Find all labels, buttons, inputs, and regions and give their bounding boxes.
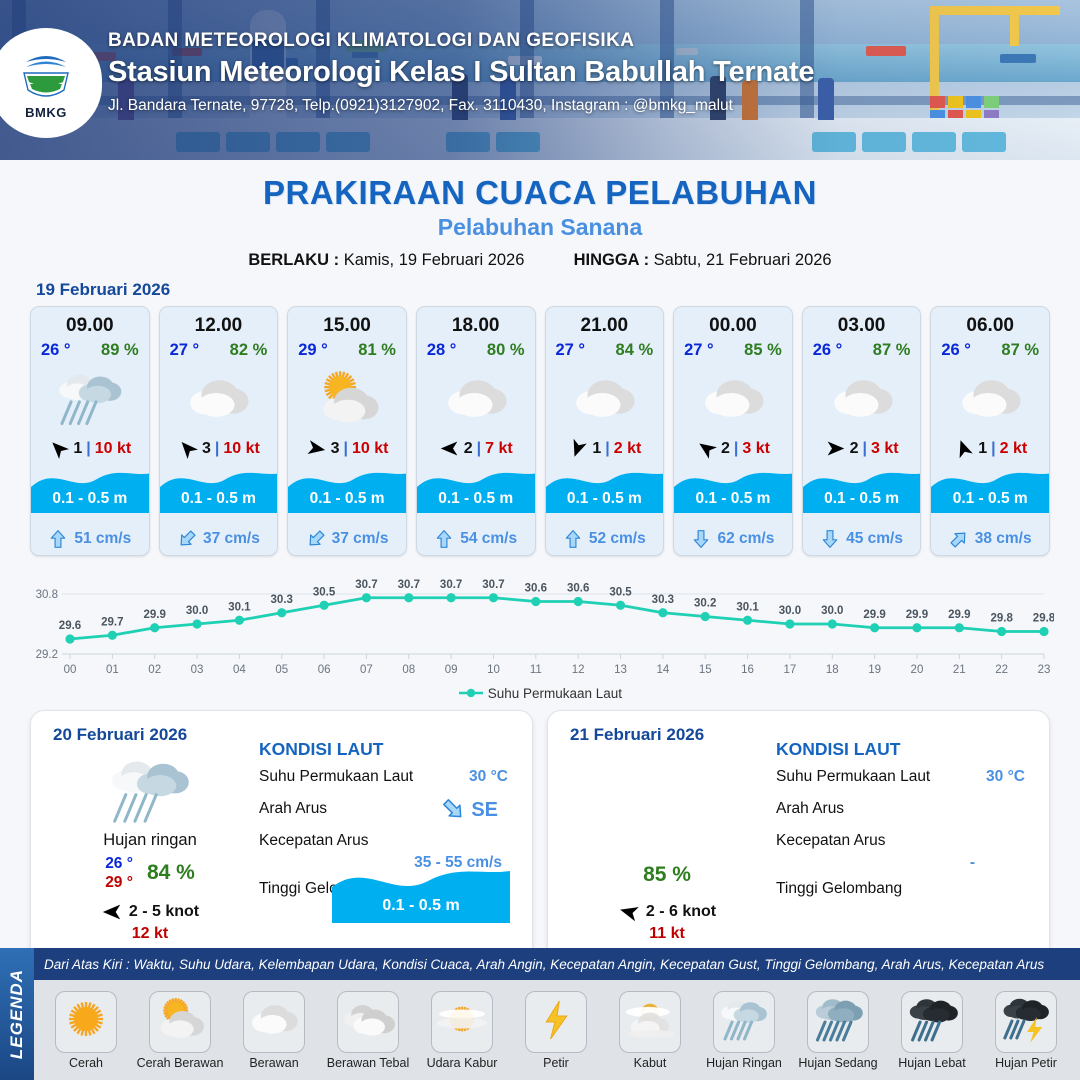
legend-item: Cerah — [42, 991, 130, 1070]
day2-wave-badge: 0.1 - 0.5 m — [332, 865, 510, 923]
card-time: 09.00 — [31, 307, 149, 337]
legend-item: Hujan Sedang — [794, 991, 882, 1070]
valid-until-label: HINGGA : — [574, 251, 649, 269]
card-current-speed: 51 cm/s — [74, 530, 131, 548]
day3-sst-value: 30 °C — [986, 768, 1025, 786]
card-temp-humidity: 26 ° 89 % — [31, 337, 149, 360]
legend-item-label: Cerah Berawan — [136, 1056, 224, 1070]
card-wind-dir-number: 2 — [721, 440, 730, 458]
card-humidity: 82 % — [230, 341, 268, 360]
svg-text:20: 20 — [911, 664, 924, 676]
sst-chart: 30.829.200010203040506070809101112131415… — [26, 570, 1054, 690]
card-humidity: 81 % — [358, 341, 396, 360]
svg-text:13: 13 — [614, 664, 627, 676]
legend-item: Petir — [512, 991, 600, 1070]
legend-item-label: Petir — [512, 1056, 600, 1070]
day3-current-speed-value: - — [970, 854, 975, 872]
svg-text:08: 08 — [402, 664, 415, 676]
sea-row: Suhu Permukaan Laut 30 °C — [776, 768, 1033, 800]
day2-temp-min: 26 ° — [105, 854, 133, 873]
card-current-speed: 37 cm/s — [203, 530, 260, 548]
card-wave-height: 0.1 - 0.5 m — [803, 490, 921, 508]
card-wind-dir-number: 1 — [978, 440, 987, 458]
svg-text:30.3: 30.3 — [652, 594, 674, 606]
svg-text:30.2: 30.2 — [694, 598, 716, 610]
berawan-tebal-icon — [341, 994, 395, 1049]
hour-card: 06.00 26 ° 87 % 1 | 2 kt 0.1 - 0.5 m 3 — [930, 306, 1050, 556]
card-wave-block: 0.1 - 0.5 m — [31, 467, 149, 513]
svg-text:30.1: 30.1 — [228, 601, 251, 613]
svg-text:04: 04 — [233, 664, 246, 676]
card-humidity: 87 % — [873, 341, 911, 360]
card-wave-height: 0.1 - 0.5 m — [417, 490, 535, 508]
card-time: 06.00 — [931, 307, 1049, 337]
svg-text:29.9: 29.9 — [863, 609, 885, 621]
card-weather-icon — [31, 362, 149, 434]
svg-text:12: 12 — [572, 664, 585, 676]
card-temp-humidity: 27 ° 82 % — [160, 337, 278, 360]
card-current-speed: 45 cm/s — [846, 530, 903, 548]
day3-gust: 11 kt — [562, 925, 772, 943]
day2-wind: 2 - 5 knot — [45, 901, 255, 923]
card-gust: 2 kt — [614, 440, 642, 458]
card-wind-separator: | — [862, 440, 866, 458]
current-direction-arrow-icon — [691, 529, 711, 549]
svg-text:30.6: 30.6 — [525, 583, 547, 595]
valid-from-value: Kamis, 19 Februari 2026 — [344, 251, 525, 269]
svg-text:29.9: 29.9 — [906, 609, 928, 621]
day2-sea-conditions: KONDISI LAUT Suhu Permukaan Laut 30 °C A… — [259, 739, 516, 912]
card-wave-block: 0.1 - 0.5 m — [674, 467, 792, 513]
day3-wave-label: Tinggi Gelombang — [776, 880, 902, 897]
day2-current-dir-text: SE — [471, 799, 498, 821]
legend-item: Hujan Ringan — [700, 991, 788, 1070]
day3-sst-label: Suhu Permukaan Laut — [776, 768, 930, 785]
hour-card: 18.00 28 ° 80 % 2 | 7 kt 0.1 - 0.5 m 5 — [416, 306, 536, 556]
day3-current-dir-label: Arah Arus — [776, 800, 844, 817]
svg-text:22: 22 — [995, 664, 1008, 676]
card-wave-height: 0.1 - 0.5 m — [546, 490, 664, 508]
svg-text:30.7: 30.7 — [440, 579, 462, 591]
card-wind: 2 | 7 kt — [417, 438, 535, 459]
wind-direction-arrow-icon — [618, 901, 640, 923]
svg-text:01: 01 — [106, 664, 119, 676]
card-gust: 10 kt — [95, 440, 131, 458]
card-wind-separator: | — [344, 440, 348, 458]
legend-item-label: Hujan Sedang — [794, 1056, 882, 1070]
berawan-icon — [247, 994, 301, 1049]
svg-text:15: 15 — [699, 664, 712, 676]
day3-summary: 85 % 2 - 6 knot 11 kt — [562, 751, 772, 943]
day2-temperatures: 26 ° 29 ° — [105, 854, 133, 893]
current-direction-arrow-icon — [306, 529, 326, 549]
svg-text:30.7: 30.7 — [482, 579, 504, 591]
day3-wind-speed: 2 - 6 knot — [646, 903, 716, 921]
sea-row: Arah Arus — [776, 800, 1033, 832]
agency-name: BADAN METEOROLOGI KLIMATOLOGI DAN GEOFIS… — [108, 30, 814, 52]
svg-text:29.7: 29.7 — [101, 616, 123, 628]
svg-text:16: 16 — [741, 664, 754, 676]
day3-humidity: 85 % — [562, 863, 772, 887]
card-weather-icon — [288, 362, 406, 434]
svg-text:30.1: 30.1 — [736, 601, 759, 613]
card-wind-dir-number: 2 — [464, 440, 473, 458]
card-wave-block: 0.1 - 0.5 m — [160, 467, 278, 513]
card-current: 52 cm/s — [546, 529, 664, 549]
hour-card: 03.00 26 ° 87 % 2 | 3 kt 0.1 - 0.5 m 4 — [802, 306, 922, 556]
card-time: 00.00 — [674, 307, 792, 337]
legend-item-label: Berawan — [230, 1056, 318, 1070]
card-current-speed: 38 cm/s — [975, 530, 1032, 548]
card-wind-dir-number: 1 — [592, 440, 601, 458]
svg-text:17: 17 — [784, 664, 797, 676]
card-wave-height: 0.1 - 0.5 m — [288, 490, 406, 508]
legend-icon-box — [995, 991, 1057, 1053]
card-weather-icon — [803, 362, 921, 434]
card-gust: 3 kt — [871, 440, 899, 458]
svg-text:21: 21 — [953, 664, 966, 676]
card-weather-icon — [160, 362, 278, 434]
hujan-petir-icon — [999, 994, 1053, 1049]
day1-date-label: 19 Februari 2026 — [36, 280, 1080, 300]
bmkg-logo-mark — [18, 46, 74, 104]
legend-icon-box — [243, 991, 305, 1053]
card-wave-height: 0.1 - 0.5 m — [931, 490, 1049, 508]
card-current-speed: 52 cm/s — [589, 530, 646, 548]
wind-direction-arrow-icon — [696, 438, 717, 459]
card-wind: 2 | 3 kt — [803, 438, 921, 459]
hour-card: 21.00 27 ° 84 % 1 | 2 kt 0.1 - 0.5 m 5 — [545, 306, 665, 556]
current-direction-arrow-icon — [434, 529, 454, 549]
card-wind-separator: | — [991, 440, 995, 458]
udara-kabur-icon — [435, 994, 489, 1049]
hujan-sedang-icon — [811, 994, 865, 1049]
wind-direction-arrow-icon — [567, 438, 588, 459]
hour-card: 12.00 27 ° 82 % 3 | 10 kt 0.1 - 0.5 m — [159, 306, 279, 556]
svg-text:23: 23 — [1038, 664, 1051, 676]
sea-row: Tinggi Gelombang — [776, 880, 1033, 912]
card-current: 54 cm/s — [417, 529, 535, 549]
card-current: 62 cm/s — [674, 529, 792, 549]
card-temperature: 26 ° — [813, 341, 843, 360]
card-wind-separator: | — [86, 440, 90, 458]
day2-temp-max: 29 ° — [105, 873, 133, 892]
card-wave-block: 0.1 - 0.5 m — [803, 467, 921, 513]
card-wind-dir-number: 1 — [73, 440, 82, 458]
card-current-speed: 62 cm/s — [717, 530, 774, 548]
svg-text:29.8: 29.8 — [990, 613, 1013, 625]
validity-row: BERLAKU : Kamis, 19 Februari 2026 HINGGA… — [0, 251, 1080, 270]
current-direction-arrow-icon — [949, 529, 969, 549]
card-wind-dir-number: 2 — [850, 440, 859, 458]
day2-summary: Hujan ringan 26 ° 29 ° 84 % 2 - 5 knot 1… — [45, 751, 255, 943]
day2-sea-title: KONDISI LAUT — [259, 739, 516, 760]
station-address: Jl. Bandara Ternate, 97728, Telp.(0921)3… — [108, 97, 814, 115]
petir-icon — [529, 994, 583, 1049]
sea-row: Kecepatan Arus - — [776, 832, 1033, 864]
card-time: 12.00 — [160, 307, 278, 337]
svg-text:09: 09 — [445, 664, 458, 676]
legend-side-title: LEGENDA — [7, 969, 27, 1059]
day3-sea-title: KONDISI LAUT — [776, 739, 1033, 760]
hour-card: 15.00 29 ° 81 % 3 | 10 kt 0.1 - 0.5 m — [287, 306, 407, 556]
day2-wave-value: 0.1 - 0.5 m — [332, 897, 510, 915]
legend-section: LEGENDA Dari Atas Kiri : Waktu, Suhu Uda… — [0, 948, 1080, 1080]
header-banner: BMKG BADAN METEOROLOGI KLIMATOLOGI DAN G… — [0, 0, 1080, 160]
card-weather-icon — [417, 362, 535, 434]
card-temperature: 27 ° — [556, 341, 586, 360]
kabut-icon — [623, 994, 677, 1049]
card-temperature: 27 ° — [684, 341, 714, 360]
svg-text:00: 00 — [64, 664, 77, 676]
day3-sea-conditions: KONDISI LAUT Suhu Permukaan Laut 30 °C A… — [776, 739, 1033, 912]
day2-current-speed-label: Kecepatan Arus — [259, 832, 368, 849]
card-temp-humidity: 27 ° 85 % — [674, 337, 792, 360]
day3-wind: 2 - 6 knot — [562, 901, 772, 923]
svg-text:30.5: 30.5 — [609, 586, 632, 598]
card-temperature: 28 ° — [427, 341, 457, 360]
legend-side-banner: LEGENDA — [0, 948, 34, 1080]
current-direction-arrow-icon — [440, 799, 466, 821]
card-wind: 1 | 10 kt — [31, 438, 149, 459]
card-wave-height: 0.1 - 0.5 m — [674, 490, 792, 508]
bmkg-logo-text: BMKG — [25, 105, 67, 120]
legend-item: Berawan Tebal — [324, 991, 412, 1070]
card-time: 03.00 — [803, 307, 921, 337]
card-temp-humidity: 26 ° 87 % — [803, 337, 921, 360]
card-gust: 10 kt — [352, 440, 388, 458]
cerah-icon — [59, 994, 113, 1049]
card-temp-humidity: 29 ° 81 % — [288, 337, 406, 360]
card-time: 21.00 — [546, 307, 664, 337]
legend-item: Cerah Berawan — [136, 991, 224, 1070]
hourly-forecast-row: 09.00 26 ° 89 % 1 | 10 kt 0.1 - 0 — [0, 306, 1080, 556]
svg-text:07: 07 — [360, 664, 373, 676]
legend-item-label: Berawan Tebal — [324, 1056, 412, 1070]
page-title: PRAKIRAAN CUACA PELABUHAN — [0, 174, 1080, 212]
card-temp-humidity: 26 ° 87 % — [931, 337, 1049, 360]
hujan-ringan-icon — [717, 994, 771, 1049]
station-name: Stasiun Meteorologi Kelas I Sultan Babul… — [108, 56, 814, 89]
day2-temp-humidity: 26 ° 29 ° 84 % — [45, 854, 255, 893]
sea-row: Arah Arus SE — [259, 800, 516, 832]
wind-direction-arrow-icon — [306, 438, 327, 459]
day3-date: 21 Februari 2026 — [570, 725, 704, 745]
card-humidity: 80 % — [487, 341, 525, 360]
card-wave-height: 0.1 - 0.5 m — [160, 490, 278, 508]
svg-text:30.8: 30.8 — [36, 589, 58, 601]
card-temp-humidity: 28 ° 80 % — [417, 337, 535, 360]
svg-text:30.0: 30.0 — [821, 605, 843, 617]
svg-text:30.5: 30.5 — [313, 586, 336, 598]
legend-item-label: Udara Kabur — [418, 1056, 506, 1070]
svg-text:19: 19 — [868, 664, 881, 676]
legend-item: Udara Kabur — [418, 991, 506, 1070]
svg-text:30.0: 30.0 — [779, 605, 801, 617]
legend-note: Dari Atas Kiri : Waktu, Suhu Udara, Kele… — [34, 948, 1080, 980]
card-temperature: 26 ° — [41, 341, 71, 360]
day2-date: 20 Februari 2026 — [53, 725, 187, 745]
card-time: 15.00 — [288, 307, 406, 337]
card-current: 45 cm/s — [803, 529, 921, 549]
legend-icon-box — [337, 991, 399, 1053]
svg-text:03: 03 — [191, 664, 204, 676]
card-gust: 10 kt — [223, 440, 259, 458]
legend-items: Cerah Cerah Berawan Berawan Berawan — [34, 980, 1080, 1080]
day2-current-dir-label: Arah Arus — [259, 800, 327, 817]
card-wave-block: 0.1 - 0.5 m — [546, 467, 664, 513]
day2-gust: 12 kt — [45, 925, 255, 943]
current-direction-arrow-icon — [820, 529, 840, 549]
sea-row: Kecepatan Arus 35 - 55 cm/s — [259, 832, 516, 864]
legend-item: Hujan Lebat — [888, 991, 976, 1070]
card-humidity: 84 % — [616, 341, 654, 360]
cerah-berawan-icon — [153, 994, 207, 1049]
card-humidity: 87 % — [1001, 341, 1039, 360]
panel-day2: 20 Februari 2026 Hujan ringan 26 ° 29 ° … — [30, 710, 533, 960]
card-current-speed: 54 cm/s — [460, 530, 517, 548]
wind-direction-arrow-icon — [439, 438, 460, 459]
valid-until-value: Sabtu, 21 Februari 2026 — [654, 251, 832, 269]
card-wind-separator: | — [605, 440, 609, 458]
card-temp-humidity: 27 ° 84 % — [546, 337, 664, 360]
legend-item-label: Hujan Ringan — [700, 1056, 788, 1070]
hujan-lebat-icon — [905, 994, 959, 1049]
svg-text:29.2: 29.2 — [36, 649, 58, 661]
svg-text:06: 06 — [318, 664, 331, 676]
legend-icon-box — [619, 991, 681, 1053]
card-wind: 3 | 10 kt — [288, 438, 406, 459]
svg-text:11: 11 — [530, 664, 542, 676]
card-temperature: 29 ° — [298, 341, 328, 360]
card-current: 51 cm/s — [31, 529, 149, 549]
current-direction-arrow-icon — [177, 529, 197, 549]
legend-icon-box — [807, 991, 869, 1053]
svg-text:05: 05 — [275, 664, 288, 676]
day2-current-dir-value: SE — [440, 796, 498, 822]
svg-text:29.8: 29.8 — [1033, 613, 1054, 625]
card-gust: 7 kt — [485, 440, 513, 458]
card-current: 37 cm/s — [288, 529, 406, 549]
valid-from-label: BERLAKU : — [248, 251, 339, 269]
legend-icon-box — [525, 991, 587, 1053]
legend-icon-box — [149, 991, 211, 1053]
card-wind-dir-number: 3 — [202, 440, 211, 458]
hour-card: 00.00 27 ° 85 % 2 | 3 kt 0.1 - 0.5 m 6 — [673, 306, 793, 556]
card-wind-separator: | — [215, 440, 219, 458]
daily-panels: 20 Februari 2026 Hujan ringan 26 ° 29 ° … — [0, 702, 1080, 960]
card-current: 38 cm/s — [931, 529, 1049, 549]
card-wave-height: 0.1 - 0.5 m — [31, 490, 149, 508]
bmkg-logo: BMKG — [0, 28, 102, 138]
legend-icon-box — [901, 991, 963, 1053]
legend-item: Kabut — [606, 991, 694, 1070]
card-wind-dir-number: 3 — [331, 440, 340, 458]
day3-current-speed-label: Kecepatan Arus — [776, 832, 885, 849]
day2-sst-value: 30 °C — [469, 768, 508, 786]
legend-icon-box — [713, 991, 775, 1053]
day2-weather-icon — [45, 751, 255, 829]
svg-text:30.7: 30.7 — [398, 579, 420, 591]
card-current-speed: 37 cm/s — [332, 530, 389, 548]
wind-direction-arrow-icon — [177, 438, 198, 459]
card-weather-icon — [931, 362, 1049, 434]
card-wave-block: 0.1 - 0.5 m — [931, 467, 1049, 513]
panel-day3: 21 Februari 2026 85 % 2 - 6 knot 11 kt K… — [547, 710, 1050, 960]
day2-condition: Hujan ringan — [45, 831, 255, 850]
page-subtitle: Pelabuhan Sanana — [0, 214, 1080, 241]
card-wind: 1 | 2 kt — [546, 438, 664, 459]
legend-icon-box — [55, 991, 117, 1053]
card-temperature: 26 ° — [941, 341, 971, 360]
svg-text:14: 14 — [656, 664, 669, 676]
legend-item-label: Hujan Petir — [982, 1056, 1070, 1070]
current-direction-arrow-icon — [563, 529, 583, 549]
card-gust: 3 kt — [742, 440, 770, 458]
day2-humidity: 84 % — [147, 861, 195, 885]
wind-direction-arrow-icon — [48, 438, 69, 459]
card-wave-block: 0.1 - 0.5 m — [288, 467, 406, 513]
svg-text:30.7: 30.7 — [355, 579, 377, 591]
svg-text:29.9: 29.9 — [144, 609, 166, 621]
legend-icon-box — [431, 991, 493, 1053]
wind-direction-arrow-icon — [825, 438, 846, 459]
svg-text:29.9: 29.9 — [948, 609, 970, 621]
svg-text:30.0: 30.0 — [186, 605, 208, 617]
legend-item-label: Kabut — [606, 1056, 694, 1070]
svg-text:02: 02 — [148, 664, 161, 676]
current-direction-arrow-icon — [48, 529, 68, 549]
hour-card: 09.00 26 ° 89 % 1 | 10 kt 0.1 - 0 — [30, 306, 150, 556]
card-wind-separator: | — [734, 440, 738, 458]
svg-text:30.3: 30.3 — [271, 594, 293, 606]
header-text-block: BADAN METEOROLOGI KLIMATOLOGI DAN GEOFIS… — [108, 30, 814, 115]
card-wave-block: 0.1 - 0.5 m — [417, 467, 535, 513]
svg-text:30.6: 30.6 — [567, 583, 589, 595]
legend-item-label: Cerah — [42, 1056, 130, 1070]
card-temperature: 27 ° — [170, 341, 200, 360]
legend-item: Berawan — [230, 991, 318, 1070]
svg-text:29.6: 29.6 — [59, 620, 81, 632]
wind-direction-arrow-icon — [101, 901, 123, 923]
svg-text:18: 18 — [826, 664, 839, 676]
card-humidity: 89 % — [101, 341, 139, 360]
card-wind: 1 | 2 kt — [931, 438, 1049, 459]
legend-item: Hujan Petir — [982, 991, 1070, 1070]
card-current: 37 cm/s — [160, 529, 278, 549]
card-weather-icon — [674, 362, 792, 434]
title-area: PRAKIRAAN CUACA PELABUHAN Pelabuhan Sana… — [0, 160, 1080, 270]
svg-text:10: 10 — [487, 664, 500, 676]
day2-sst-label: Suhu Permukaan Laut — [259, 768, 413, 785]
card-wind-separator: | — [477, 440, 481, 458]
legend-item-label: Hujan Lebat — [888, 1056, 976, 1070]
card-humidity: 85 % — [744, 341, 782, 360]
card-weather-icon — [546, 362, 664, 434]
card-wind: 3 | 10 kt — [160, 438, 278, 459]
card-wind: 2 | 3 kt — [674, 438, 792, 459]
day2-wind-speed: 2 - 5 knot — [129, 903, 199, 921]
card-gust: 2 kt — [1000, 440, 1028, 458]
card-time: 18.00 — [417, 307, 535, 337]
wind-direction-arrow-icon — [953, 438, 974, 459]
